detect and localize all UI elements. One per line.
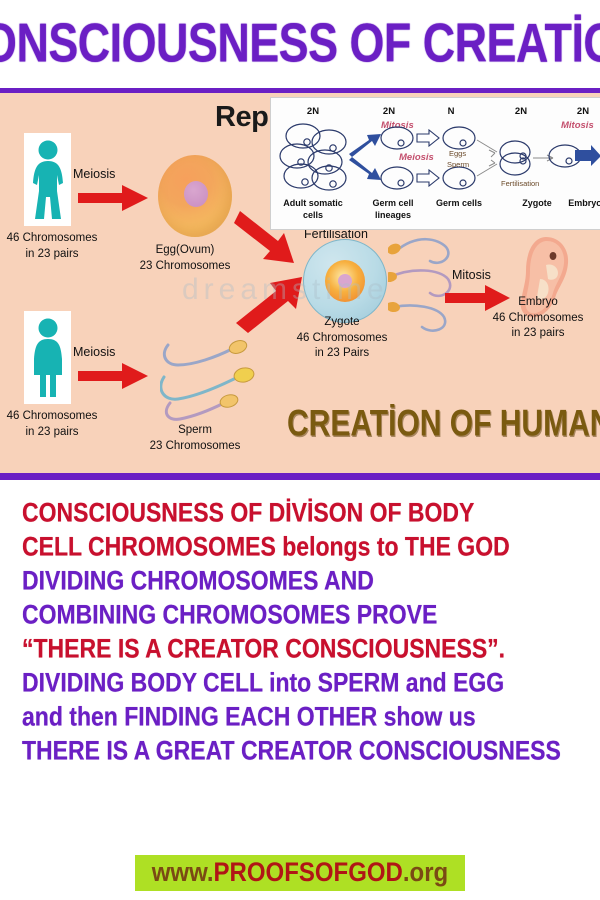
inset-embryo-arrow — [575, 145, 600, 166]
zygote-caption-line2: 46 Chromosomes — [282, 331, 402, 347]
meiosis-label-female: Meiosis — [73, 167, 115, 181]
embryo-caption-line1: Embryo — [478, 295, 598, 311]
sperm-caption-line1: Sperm — [135, 423, 255, 439]
inset-stage-3: Zygote — [522, 198, 552, 208]
inset-ploidy-2: N — [448, 106, 455, 117]
inset-stage-0-line2: cells — [303, 210, 323, 220]
url-prefix: www. — [152, 857, 214, 887]
female-person-icon — [28, 139, 68, 221]
page-title-bar: CONSCIOUSNESS OF CREATİON — [0, 0, 600, 88]
embryo-caption-line2: 46 Chromosomes — [478, 311, 598, 327]
inset-germ-cells — [443, 127, 475, 189]
male-person-icon — [28, 317, 68, 399]
inset-fertilisation-arrows — [477, 140, 497, 176]
red-arrow-female-to-egg — [78, 185, 148, 211]
inset-ploidy-1: 2N — [383, 106, 395, 117]
inset-stage-2: Germ cells — [436, 198, 482, 208]
zygote-nucleus — [325, 260, 365, 302]
mitosis-label-main: Mitosis — [452, 268, 491, 282]
inset-stage-1-line1: Germ cell — [372, 198, 413, 208]
red-arrow-male-to-sperm — [78, 363, 148, 389]
egg-caption-line2: 23 Chromosomes — [125, 259, 245, 275]
url-domain: PROOFSOFGOD — [214, 857, 403, 887]
inset-stage-4: Embryo — [568, 198, 600, 208]
message-text-block: CONSCIOUSNESS OF DİVİSON OF BODY CELL CH… — [0, 487, 600, 767]
sperm-cells-illustration — [160, 333, 280, 423]
female-caption-line2: in 23 pairs — [2, 247, 102, 263]
website-url[interactable]: www.PROOFSOFGOD.org — [152, 857, 448, 888]
sperm-caption: Sperm 23 Chromosomes — [135, 423, 255, 454]
inset-ploidy-4: 2N — [577, 106, 589, 117]
embryo-caption: Embryo 46 Chromosomes in 23 pairs — [478, 295, 598, 342]
zygote-illustration — [303, 239, 387, 323]
inset-meiosis-label: Meiosis — [399, 152, 434, 163]
inset-somatic-cells — [280, 124, 346, 190]
inset-ploidy-3: 2N — [515, 106, 527, 117]
lifecycle-inset-diagram: 2N 2N N 2N 2N Mitosis — [270, 97, 600, 230]
egg-nucleus — [184, 181, 208, 207]
inset-fertilisation-cell — [500, 141, 530, 175]
zygote-caption-line3: in 23 Pairs — [282, 346, 402, 362]
embryo-caption-line3: in 23 pairs — [478, 326, 598, 342]
page-title: CONSCIOUSNESS OF CREATİON — [0, 13, 600, 76]
female-person-box — [24, 133, 71, 226]
sperm-caption-line2: 23 Chromosomes — [135, 439, 255, 455]
inset-eggs-label: Eggs — [449, 149, 466, 158]
creation-of-human-heading: CREATİON OF HUMAN — [287, 404, 600, 445]
male-caption-line2: in 23 pairs — [2, 425, 102, 441]
meiosis-label-male: Meiosis — [73, 345, 115, 359]
female-caption: 46 Chromosomes in 23 pairs — [2, 231, 102, 262]
inset-ploidy-0: 2N — [307, 106, 319, 117]
url-suffix: .org — [403, 857, 448, 887]
inset-stage-1-line2: lineages — [375, 210, 411, 220]
reproduction-diagram-panel: Reproduction 46 Chromosomes in 23 pairs … — [0, 88, 600, 480]
male-person-box — [24, 311, 71, 404]
male-caption-line1: 46 Chromosomes — [2, 409, 102, 425]
male-caption: 46 Chromosomes in 23 pairs — [2, 409, 102, 440]
inset-sperm-label: Sperm — [447, 160, 469, 169]
inset-mitosis-label-2: Mitosis — [561, 120, 594, 131]
inset-mitosis-meiosis-arrows — [349, 134, 381, 180]
female-caption-line1: 46 Chromosomes — [2, 231, 102, 247]
egg-caption: Egg(Ovum) 23 Chromosomes — [125, 243, 245, 274]
zygote-caption-line1: Zygote — [282, 315, 402, 331]
egg-cell-illustration — [158, 155, 232, 237]
inset-mitosis-label-1: Mitosis — [381, 120, 414, 131]
egg-caption-line1: Egg(Ovum) — [125, 243, 245, 259]
inset-stage-0-line1: Adult somatic — [283, 198, 343, 208]
website-footer-banner[interactable]: www.PROOFSOFGOD.org — [135, 855, 465, 891]
message-line-8: THERE IS A GREAT CREATOR CONSCIOUSNESS — [22, 730, 600, 770]
zygote-caption: Zygote 46 Chromosomes in 23 Pairs — [282, 315, 402, 362]
inset-fertilisation-label: Fertilisation — [501, 179, 539, 188]
